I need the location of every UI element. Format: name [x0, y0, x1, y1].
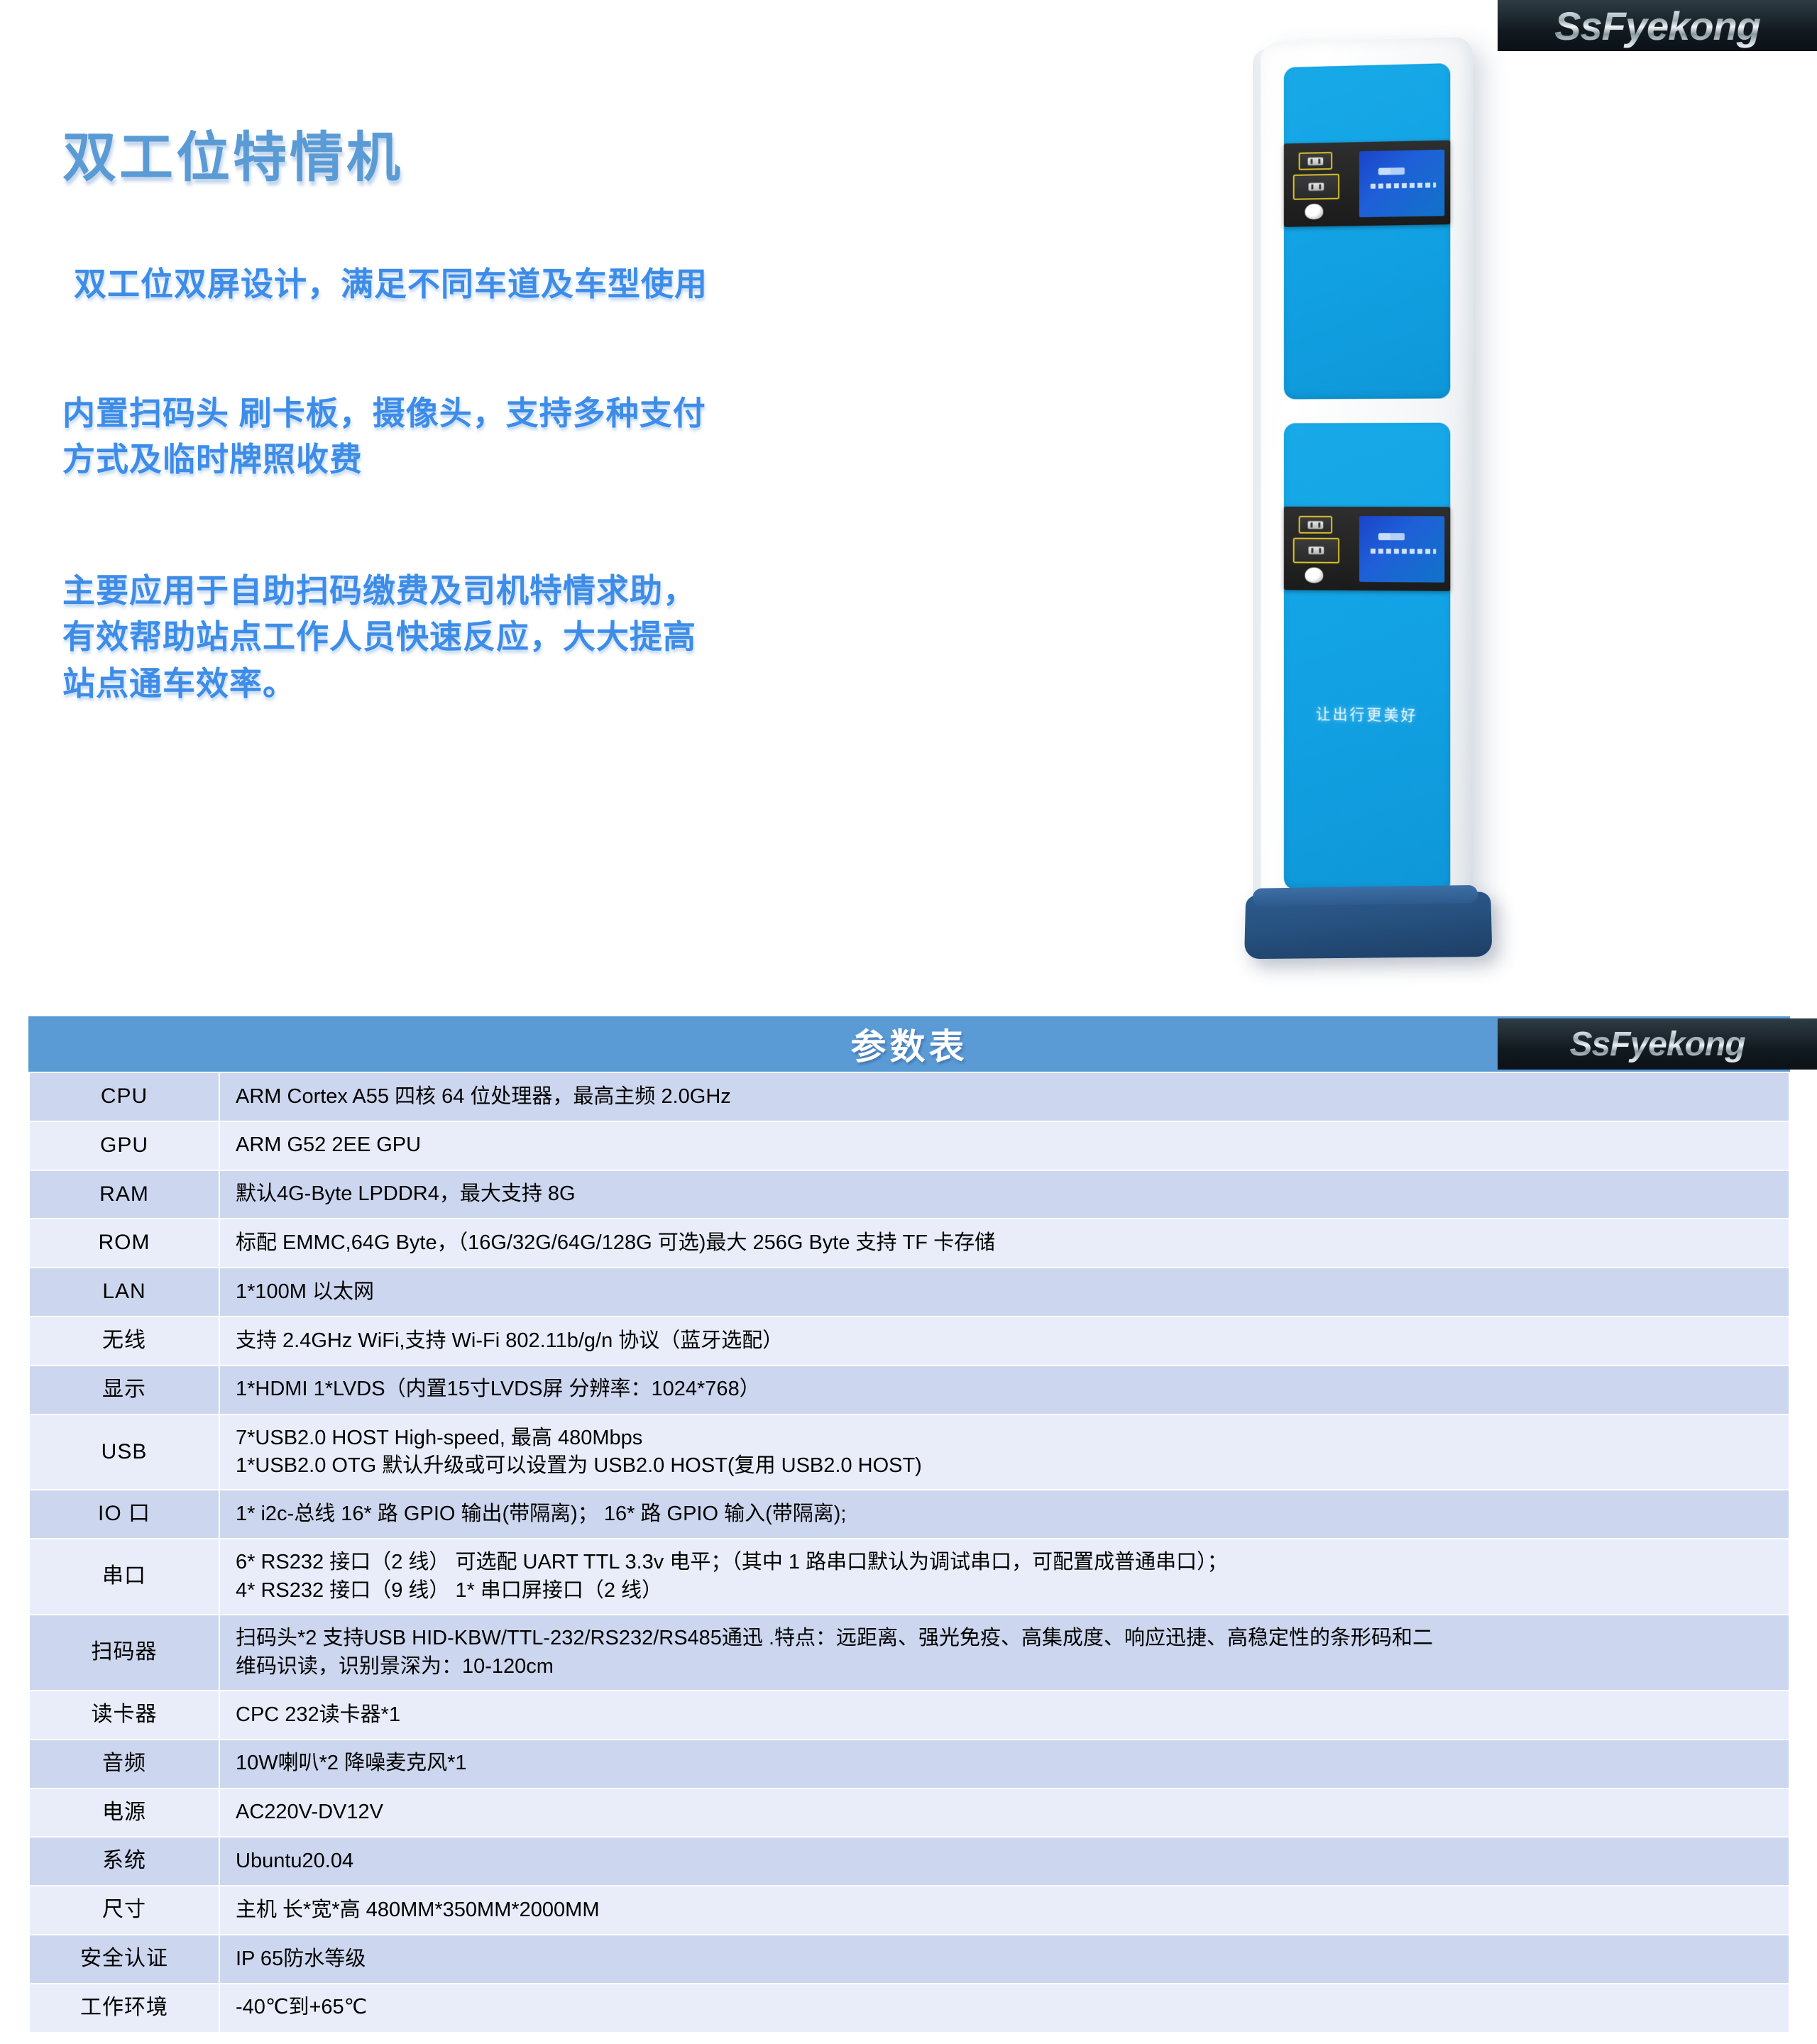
spec-value-line: AC220V-DV12V	[236, 1798, 1782, 1826]
brand-watermark-table: SsFyekong	[1498, 1018, 1817, 1070]
card-reader-icon-lower	[1299, 516, 1333, 534]
table-row: CPUARM Cortex A55 四核 64 位处理器，最高主频 2.0GHz	[29, 1072, 1789, 1121]
kiosk-body: 让出行更美好	[1261, 37, 1473, 916]
scanner-glyph-icon	[1308, 183, 1324, 191]
camera-icon-lower	[1305, 568, 1324, 583]
spec-value-cell: 1*HDMI 1*LVDS（内置15寸LVDS屏 分辨率：1024*768）	[219, 1366, 1789, 1414]
feature-bullet-line: 方式及临时牌照收费	[62, 436, 879, 483]
spec-label-cell: 电源	[29, 1788, 219, 1837]
spec-value-line: Ubuntu20.04	[236, 1847, 1782, 1875]
spec-value-cell: 6* RS232 接口（2 线） 可选配 UART TTL 3.3v 电平；（其…	[219, 1539, 1789, 1615]
spec-value-line: 1*USB2.0 OTG 默认升级或可以设置为 USB2.0 HOST(复用 U…	[236, 1452, 1782, 1480]
spec-value-line: CPC 232读卡器*1	[236, 1701, 1782, 1729]
brand-watermark-text: SsFyekong	[1554, 3, 1760, 49]
table-row: RAM默认4G-Byte LPDDR4，最大支持 8G	[29, 1170, 1789, 1219]
spec-label-cell: USB	[29, 1414, 219, 1490]
card-glyph-icon-lower	[1308, 521, 1324, 529]
card-reader-icon	[1299, 152, 1333, 170]
table-row: 尺寸主机 长*宽*高 480MM*350MM*2000MM	[29, 1886, 1789, 1935]
spec-value-cell: 10W喇叭*2 降噪麦克风*1	[219, 1740, 1789, 1788]
spec-value-cell: -40℃到+65℃	[219, 1984, 1789, 2033]
brand-watermark-top: SsFyekong	[1498, 0, 1817, 51]
table-row: 串口6* RS232 接口（2 线） 可选配 UART TTL 3.3v 电平；…	[29, 1539, 1789, 1615]
spec-label-cell: 串口	[29, 1539, 219, 1615]
spec-value-line: 1* i2c-总线 16* 路 GPIO 输出(带隔离)； 16* 路 GPIO…	[236, 1500, 1782, 1528]
spec-table-title: 参数表	[851, 1018, 968, 1070]
table-row: 安全认证IP 65防水等级	[29, 1935, 1789, 1984]
spec-label-cell: IO 口	[29, 1490, 219, 1539]
table-row: 无线支持 2.4GHz WiFi,支持 Wi-Fi 802.11b/g/n 协议…	[29, 1317, 1789, 1366]
table-row: GPUARM G52 2EE GPU	[29, 1121, 1789, 1170]
kiosk-upper-panel	[1284, 63, 1450, 400]
spec-value-line: ARM Cortex A55 四核 64 位处理器，最高主频 2.0GHz	[236, 1083, 1782, 1111]
spec-label-cell: 尺寸	[29, 1886, 219, 1935]
spec-value-line: 6* RS232 接口（2 线） 可选配 UART TTL 3.3v 电平；（其…	[236, 1549, 1782, 1576]
kiosk-upper-screen	[1359, 150, 1444, 217]
spec-value-cell: 主机 长*宽*高 480MM*350MM*2000MM	[219, 1886, 1789, 1935]
kiosk-base	[1244, 891, 1493, 959]
spec-value-cell: IP 65防水等级	[219, 1935, 1789, 1984]
spec-label-cell: GPU	[29, 1121, 219, 1170]
table-row: USB7*USB2.0 HOST High-speed, 最高 480Mbps1…	[29, 1414, 1789, 1490]
spec-value-line: 扫码头*2 支持USB HID-KBW/TTL-232/RS232/RS485通…	[236, 1625, 1782, 1652]
spec-label-cell: CPU	[29, 1072, 219, 1121]
spec-value-line: 默认4G-Byte LPDDR4，最大支持 8G	[236, 1180, 1782, 1208]
kiosk-lower-bezel	[1284, 507, 1450, 591]
spec-value-cell: 1* i2c-总线 16* 路 GPIO 输出(带隔离)； 16* 路 GPIO…	[219, 1490, 1789, 1539]
feature-bullet-2: 内置扫码头 刷卡板，摄像头，支持多种支付方式及临时牌照收费	[62, 390, 879, 483]
feature-bullet-line: 主要应用于自助扫码缴费及司机特情求助，	[62, 568, 879, 614]
spec-value-line: ARM G52 2EE GPU	[236, 1131, 1782, 1159]
spec-label-cell: 无线	[29, 1317, 219, 1366]
spec-value-cell: ARM G52 2EE GPU	[219, 1121, 1789, 1170]
table-row: 扫码器扫码头*2 支持USB HID-KBW/TTL-232/RS232/RS4…	[29, 1615, 1789, 1691]
spec-value-line: 1*HDMI 1*LVDS（内置15寸LVDS屏 分辨率：1024*768）	[236, 1375, 1782, 1403]
card-glyph-icon	[1308, 157, 1324, 165]
qr-scanner-icon	[1293, 174, 1339, 200]
kiosk-lower-screen	[1359, 516, 1444, 583]
kiosk-lower-panel: 让出行更美好	[1284, 423, 1450, 894]
spec-label-cell: 扫码器	[29, 1615, 219, 1691]
screen-logo-icon-lower	[1378, 533, 1405, 540]
kiosk-upper-bezel	[1284, 141, 1450, 227]
spec-value-cell: 扫码头*2 支持USB HID-KBW/TTL-232/RS232/RS485通…	[219, 1615, 1789, 1691]
spec-label-cell: ROM	[29, 1219, 219, 1268]
qr-scanner-icon-lower	[1293, 538, 1339, 564]
table-row: 音频10W喇叭*2 降噪麦克风*1	[29, 1740, 1789, 1788]
screen-text-line	[1371, 182, 1436, 189]
spec-label-cell: 系统	[29, 1837, 219, 1886]
table-row: 读卡器CPC 232读卡器*1	[29, 1691, 1789, 1740]
spec-value-cell: AC220V-DV12V	[219, 1788, 1789, 1837]
spec-label-cell: 工作环境	[29, 1984, 219, 2033]
spec-value-cell: Ubuntu20.04	[219, 1837, 1789, 1886]
spec-value-cell: CPC 232读卡器*1	[219, 1691, 1789, 1740]
spec-value-line: 10W喇叭*2 降噪麦克风*1	[236, 1749, 1782, 1777]
product-photo: 让出行更美好	[1200, 14, 1533, 979]
table-row: 工作环境-40℃到+65℃	[29, 1984, 1789, 2033]
spec-label-cell: RAM	[29, 1170, 219, 1219]
table-row: 显示1*HDMI 1*LVDS（内置15寸LVDS屏 分辨率：1024*768）	[29, 1366, 1789, 1414]
spec-value-line: 7*USB2.0 HOST High-speed, 最高 480Mbps	[236, 1424, 1782, 1452]
feature-bullet-line: 有效帮助站点工作人员快速反应，大大提高	[62, 614, 879, 660]
page-title: 双工位特情机	[62, 114, 403, 192]
table-row: ROM标配 EMMC,64G Byte，（16G/32G/64G/128G 可选…	[29, 1219, 1789, 1268]
spec-value-line: 标配 EMMC,64G Byte，（16G/32G/64G/128G 可选)最大…	[236, 1229, 1782, 1257]
feature-bullet-1: 双工位双屏设计，满足不同车道及车型使用	[74, 261, 926, 307]
spec-value-cell: ARM Cortex A55 四核 64 位处理器，最高主频 2.0GHz	[219, 1072, 1789, 1121]
screen-text-line-lower	[1371, 549, 1436, 554]
table-row: 系统Ubuntu20.04	[29, 1837, 1789, 1886]
spec-value-line: 4* RS232 接口（9 线） 1* 串口屏接口（2 线）	[236, 1577, 1782, 1605]
spec-value-line: IP 65防水等级	[236, 1945, 1782, 1973]
table-row: 电源AC220V-DV12V	[29, 1788, 1789, 1837]
screen-logo-icon	[1378, 167, 1405, 175]
spec-label-cell: LAN	[29, 1268, 219, 1317]
spec-label-cell: 读卡器	[29, 1691, 219, 1740]
kiosk-slogan: 让出行更美好	[1284, 702, 1450, 725]
spec-value-line: 主机 长*宽*高 480MM*350MM*2000MM	[236, 1896, 1782, 1924]
feature-bullet-3: 主要应用于自助扫码缴费及司机特情求助，有效帮助站点工作人员快速反应，大大提高站点…	[62, 568, 879, 707]
spec-value-line: 1*100M 以太网	[236, 1278, 1782, 1306]
spec-value-cell: 7*USB2.0 HOST High-speed, 最高 480Mbps1*US…	[219, 1414, 1789, 1490]
spec-table: CPUARM Cortex A55 四核 64 位处理器，最高主频 2.0GHz…	[28, 1072, 1790, 2033]
spec-label-cell: 音频	[29, 1740, 219, 1788]
spec-value-cell: 支持 2.4GHz WiFi,支持 Wi-Fi 802.11b/g/n 协议（蓝…	[219, 1317, 1789, 1366]
spec-value-line: 支持 2.4GHz WiFi,支持 Wi-Fi 802.11b/g/n 协议（蓝…	[236, 1327, 1782, 1355]
spec-value-cell: 标配 EMMC,64G Byte，（16G/32G/64G/128G 可选)最大…	[219, 1219, 1789, 1268]
table-row: IO 口1* i2c-总线 16* 路 GPIO 输出(带隔离)； 16* 路 …	[29, 1490, 1789, 1539]
feature-bullet-line: 内置扫码头 刷卡板，摄像头，支持多种支付	[62, 390, 879, 436]
spec-value-cell: 默认4G-Byte LPDDR4，最大支持 8G	[219, 1170, 1789, 1219]
spec-section: 参数表 CPUARM Cortex A55 四核 64 位处理器，最高主频 2.…	[28, 1016, 1790, 2033]
feature-bullet-line: 站点通车效率。	[62, 661, 879, 707]
feature-bullet-line: 双工位双屏设计，满足不同车道及车型使用	[74, 261, 926, 307]
spec-value-cell: 1*100M 以太网	[219, 1268, 1789, 1317]
scanner-glyph-icon-lower	[1308, 546, 1324, 554]
brand-watermark-table-text: SsFyekong	[1569, 1025, 1745, 1064]
spec-value-line: 维码识读，识别景深为：10-120cm	[236, 1653, 1782, 1681]
spec-label-cell: 安全认证	[29, 1935, 219, 1984]
spec-label-cell: 显示	[29, 1366, 219, 1414]
table-row: LAN1*100M 以太网	[29, 1268, 1789, 1317]
product-spec-page: SsFyekong 双工位特情机 双工位双屏设计，满足不同车道及车型使用 内置扫…	[0, 0, 1817, 2044]
spec-value-line: -40℃到+65℃	[236, 1994, 1782, 2021]
camera-icon	[1305, 204, 1324, 219]
kiosk-illustration: 让出行更美好	[1200, 14, 1533, 979]
kiosk-base-top	[1253, 885, 1478, 906]
